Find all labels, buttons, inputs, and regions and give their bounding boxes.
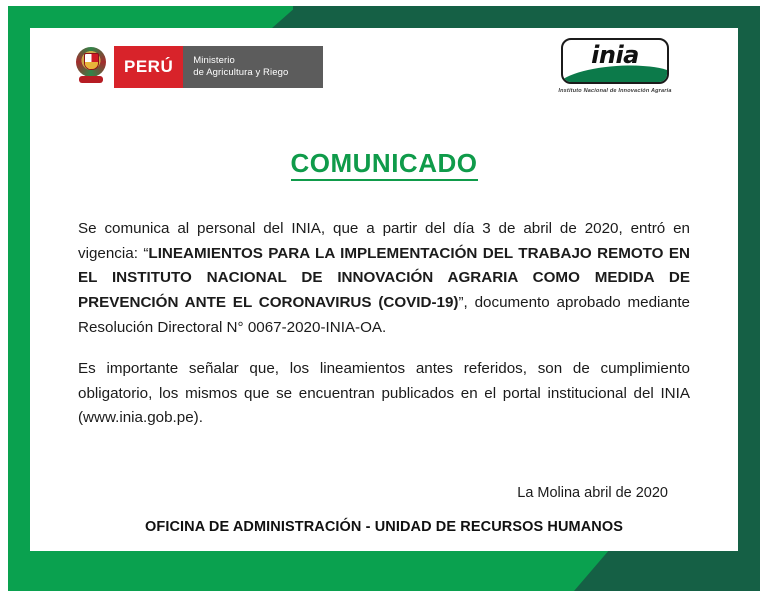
frame-dark-bottom-band — [608, 549, 760, 591]
inia-caption: Instituto Nacional de Innovación Agraria — [550, 88, 680, 94]
frame-bottom-diagonal-wedge — [574, 549, 610, 591]
page-title: COMUNICADO — [30, 148, 738, 179]
peru-coat-of-arms-icon — [74, 46, 108, 86]
inia-wordmark-text: inia — [563, 41, 667, 69]
ministry-line-1: Ministerio — [193, 55, 311, 67]
ministry-name: Ministerio de Agricultura y Riego — [183, 46, 323, 88]
inia-wordmark-badge: inia — [561, 38, 669, 84]
header: PERÚ Ministerio de Agricultura y Riego i… — [30, 28, 738, 104]
peru-wordmark: PERÚ — [114, 46, 183, 88]
green-frame: PERÚ Ministerio de Agricultura y Riego i… — [8, 6, 760, 591]
place-and-date: La Molina abril de 2020 — [78, 485, 690, 501]
communique-poster: PERÚ Ministerio de Agricultura y Riego i… — [0, 0, 768, 597]
inia-logo: inia Instituto Nacional de Innovación Ag… — [550, 38, 680, 94]
body-text: Se comunica al personal del INIA, que a … — [78, 179, 690, 431]
peru-ministry-logo: PERÚ Ministerio de Agricultura y Riego — [74, 46, 323, 88]
issuing-office: OFICINA DE ADMINISTRACIÓN - UNIDAD DE RE… — [78, 519, 690, 535]
ministry-line-2: de Agricultura y Riego — [193, 67, 311, 79]
paragraph-2: Es importante señalar que, los lineamien… — [78, 357, 690, 431]
white-card: PERÚ Ministerio de Agricultura y Riego i… — [30, 28, 738, 551]
paragraph-1: Se comunica al personal del INIA, que a … — [78, 217, 690, 340]
footer: La Molina abril de 2020 OFICINA DE ADMIN… — [78, 485, 690, 535]
page-title-text: COMUNICADO — [291, 148, 478, 181]
